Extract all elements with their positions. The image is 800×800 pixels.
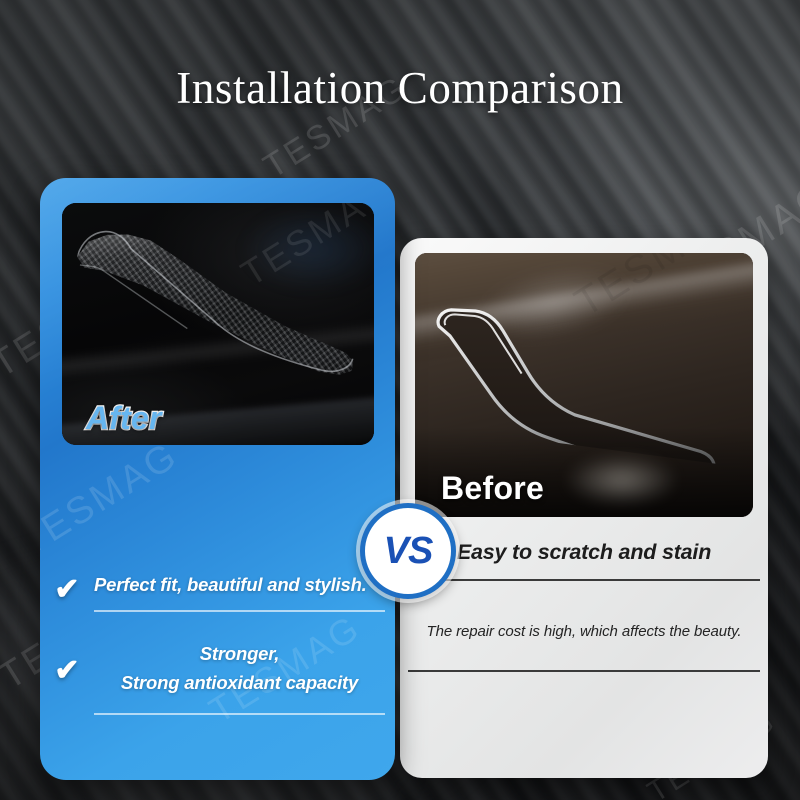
- after-badge-label: After: [86, 400, 162, 437]
- before-lower-glow: [564, 454, 679, 507]
- after-panel: TESMAG After TESMAG TESMAG ✔ Perfect fit…: [40, 178, 395, 780]
- before-divider: [408, 579, 760, 581]
- after-photo: TESMAG After: [62, 203, 374, 445]
- before-headline: Easy to scratch and stain: [420, 528, 748, 579]
- versus-label: VS: [384, 530, 433, 573]
- before-photo: TESMAG Before: [415, 253, 753, 517]
- check-icon: ✔: [40, 575, 94, 605]
- before-subtext: The repair cost is high, which affects t…: [418, 623, 750, 640]
- after-feature-line-1: Stronger,: [94, 642, 395, 671]
- after-feature-list: ✔ Perfect fit, beautiful and stylish. ✔ …: [40, 574, 395, 715]
- check-icon: ✔: [40, 656, 94, 686]
- after-feature-item: ✔ Stronger, Strong antioxidant capacity: [40, 642, 395, 699]
- watermark: TESMAG: [40, 434, 186, 565]
- after-feature-divider-bottom: [94, 713, 385, 715]
- after-feature-item: ✔ Perfect fit, beautiful and stylish.: [40, 574, 395, 606]
- after-feature-line-2: Strong antioxidant capacity: [94, 671, 395, 700]
- before-badge-label: Before: [441, 470, 544, 507]
- page-title: Installation Comparison: [0, 62, 800, 114]
- before-divider-bottom: [408, 670, 760, 672]
- before-panel: TESMAG Before Easy to scratch and stain …: [400, 238, 768, 778]
- after-feature-text: Perfect fit, beautiful and stylish.: [94, 574, 395, 606]
- versus-badge: VS: [360, 503, 456, 599]
- comparison-infographic: TESMAG TESMAG TESMAG TESMAG TESMAG TESMA…: [0, 0, 800, 800]
- after-feature-text-group: Stronger, Strong antioxidant capacity: [94, 642, 395, 699]
